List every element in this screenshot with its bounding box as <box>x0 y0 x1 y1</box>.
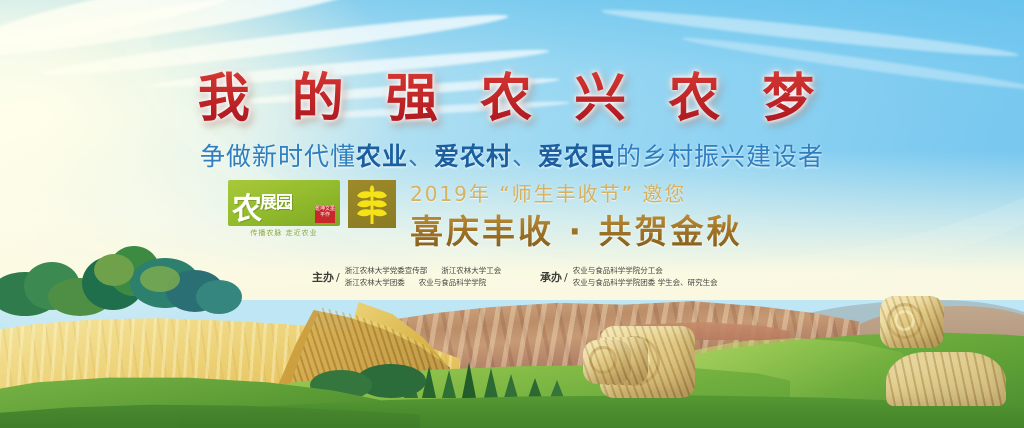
organizer-row: 农业与食品科学学院分工会 <box>573 265 718 277</box>
logo-char-sup: 展 <box>260 193 276 213</box>
nongzhanyuan-logo: 农展园 乾坤文墨平作 <box>228 180 340 226</box>
host-name: 浙江农林大学团委 <box>345 277 405 289</box>
host-row: 浙江农林大学团委 农业与食品科学学院 <box>345 277 502 289</box>
organizer-credit-group: 承办 / 农业与食品科学学院分工会 农业与食品科学学院团委 学生会、研究生会 <box>540 265 718 289</box>
logo-and-slogan-row: 农展园 乾坤文墨平作 传播农脉 走近农业 2019年 “师生丰收节” 邀您 喜庆… <box>228 178 798 256</box>
banner-subtitle: 争做新时代懂农业、爱农村、爱农民的乡村振兴建设者 <box>0 137 1024 173</box>
banner-text-content: 我 的 强 农 兴 农 梦 争做新时代懂农业、爱农村、爱农民的乡村振兴建设者 农… <box>0 0 1024 428</box>
host-row: 浙江农林大学党委宣传部 浙江农林大学工会 <box>345 265 502 277</box>
subtitle-emph-1: 农业 <box>356 142 408 171</box>
event-year-line: 2019年 “师生丰收节” 邀您 <box>410 178 686 207</box>
organizer-slash: / <box>564 271 568 284</box>
subtitle-sep-1: 、 <box>408 142 434 171</box>
logo-tagline: 传播农脉 走近农业 <box>228 228 340 238</box>
harvest-festival-banner: 我 的 强 农 兴 农 梦 争做新时代懂农业、爱农村、爱农民的乡村振兴建设者 农… <box>0 0 1024 428</box>
organizer-row: 农业与食品科学学院团委 学生会、研究生会 <box>573 277 718 289</box>
subtitle-part-2: 的乡村振兴建设者 <box>616 142 824 171</box>
host-name: 浙江农林大学党委宣传部 <box>345 265 428 277</box>
host-name: 农业与食品科学学院 <box>419 277 487 289</box>
subtitle-emph-3: 爱农民 <box>538 142 616 171</box>
logo-char-main: 农 <box>232 192 260 226</box>
wheat-ear-icon <box>348 180 396 228</box>
subtitle-part-1: 争做新时代懂 <box>200 142 356 171</box>
credits-block: 主办 / 浙江农林大学党委宣传部 浙江农林大学工会 浙江农林大学团委 农业与食品… <box>312 264 812 294</box>
subtitle-sep-2: 、 <box>512 142 538 171</box>
organizer-name: 农业与食品科学学院团委 学生会、研究生会 <box>573 277 718 289</box>
event-slogan: 喜庆丰收 · 共贺金秋 <box>410 205 743 253</box>
subtitle-emph-2: 爱农村 <box>434 142 512 171</box>
host-slash: / <box>336 271 340 284</box>
logo-char-sub: 园 <box>276 193 292 213</box>
host-name: 浙江农林大学工会 <box>441 265 501 277</box>
host-names: 浙江农林大学党委宣传部 浙江农林大学工会 浙江农林大学团委 农业与食品科学学院 <box>345 265 502 289</box>
page-title: 我 的 强 农 兴 农 梦 <box>0 56 1024 131</box>
organizer-names: 农业与食品科学学院分工会 农业与食品科学学院团委 学生会、研究生会 <box>573 265 718 289</box>
host-credit-group: 主办 / 浙江农林大学党委宣传部 浙江农林大学工会 浙江农林大学团委 农业与食品… <box>312 265 501 289</box>
host-label: 主办 <box>312 269 334 285</box>
organizer-name: 农业与食品科学学院分工会 <box>573 265 663 277</box>
red-seal-icon: 乾坤文墨平作 <box>315 206 335 223</box>
organizer-label: 承办 <box>540 269 562 285</box>
